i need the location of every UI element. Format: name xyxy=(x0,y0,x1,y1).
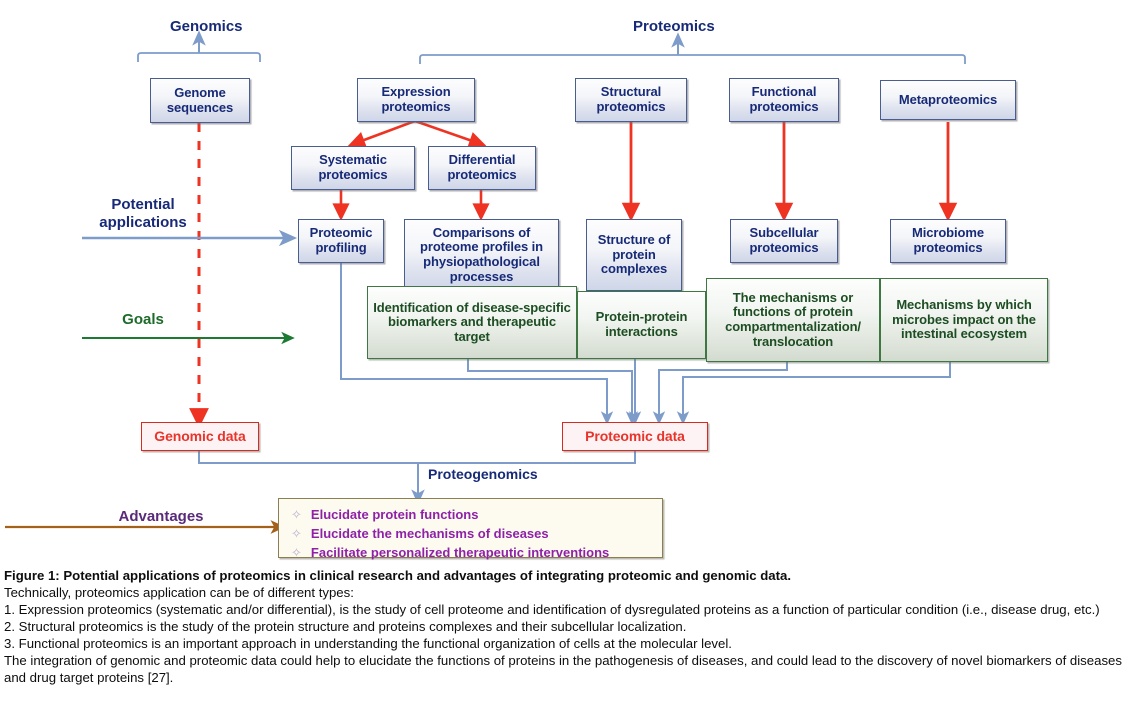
genomics-bracket xyxy=(138,53,260,62)
expression-to-differential-arrow xyxy=(415,121,478,143)
node-expression-proteomics-line-2: proteomics xyxy=(381,100,450,115)
expression-to-systematic-arrow xyxy=(356,121,415,143)
identification-to-proteomic-data-path xyxy=(468,359,632,418)
advantage-item-3: ✧ Facilitate personalized therapeutic in… xyxy=(291,544,652,563)
node-mechanisms-compartmentalization[interactable]: The mechanisms or functions of protein c… xyxy=(706,278,880,362)
genomics-heading: Genomics xyxy=(170,18,243,35)
node-functional-proteomics-line-2: proteomics xyxy=(749,100,818,115)
potential-applications-label: Potential applications xyxy=(93,196,193,232)
node-subcellular-proteomics[interactable]: Subcellular proteomics xyxy=(730,219,838,263)
node-systematic-proteomics-line-1: Systematic xyxy=(319,153,387,168)
caption-line-1: Technically, proteomics application can … xyxy=(4,584,1122,601)
caption-line-2: 1. Expression proteomics (systematic and… xyxy=(4,601,1122,618)
node-mechanisms-microbes[interactable]: Mechanisms by which microbes impact on t… xyxy=(880,278,1048,362)
diamond-bullet-icon: ✧ xyxy=(291,525,302,544)
proteomic-data-join-path xyxy=(418,451,635,463)
node-functional-proteomics-line-1: Functional xyxy=(752,85,817,100)
node-differential-proteomics[interactable]: Differential proteomics xyxy=(428,146,536,190)
node-subcellular-proteomics-line-1: Subcellular xyxy=(750,226,819,241)
potential-applications-line-2: applications xyxy=(93,214,193,232)
node-structural-proteomics[interactable]: Structural proteomics xyxy=(575,78,687,122)
advantage-item-3-text: Facilitate personalized therapeutic inte… xyxy=(311,544,609,563)
node-genome-sequences-line-2: sequences xyxy=(167,101,233,116)
node-systematic-proteomics[interactable]: Systematic proteomics xyxy=(291,146,415,190)
node-identification-biomarkers[interactable]: Identification of disease-specific bioma… xyxy=(367,286,577,359)
node-expression-proteomics[interactable]: Expression proteomics xyxy=(357,78,475,122)
node-structural-proteomics-line-1: Structural xyxy=(601,85,661,100)
compartmentalization-to-proteomic-data-path xyxy=(659,362,787,418)
node-structure-protein-complexes[interactable]: Structure of protein complexes xyxy=(586,219,682,291)
proteogenomics-label: Proteogenomics xyxy=(428,466,538,482)
genomic-data-join-path xyxy=(199,451,418,463)
node-genome-sequences-line-1: Genome xyxy=(174,86,225,101)
advantage-item-1: ✧ Elucidate protein functions xyxy=(291,506,652,525)
node-differential-proteomics-line-2: proteomics xyxy=(447,168,516,183)
advantages-box[interactable]: ✧ Elucidate protein functions ✧ Elucidat… xyxy=(278,498,663,558)
figure-diagram: Genomics Proteomics Potential applicatio… xyxy=(0,0,1126,563)
node-structural-proteomics-line-2: proteomics xyxy=(596,100,665,115)
node-proteomic-profiling[interactable]: Proteomic profiling xyxy=(298,219,384,263)
node-proteomic-profiling-line-2: profiling xyxy=(315,241,366,256)
node-microbiome-proteomics-line-2: proteomics xyxy=(913,241,982,256)
caption-line-5: The integration of genomic and proteomic… xyxy=(4,652,1122,686)
microbes-to-proteomic-data-path xyxy=(683,362,950,418)
caption-line-3: 2. Structural proteomics is the study of… xyxy=(4,618,1122,635)
caption-title: Figure 1: Potential applications of prot… xyxy=(4,567,1122,584)
caption-line-4: 3. Functional proteomics is an important… xyxy=(4,635,1122,652)
node-protein-protein-interactions[interactable]: Protein-protein interactions xyxy=(577,291,706,359)
potential-applications-line-1: Potential xyxy=(93,196,193,214)
node-comparisons-proteome-profiles[interactable]: Comparisons of proteome profiles in phys… xyxy=(404,219,559,291)
advantage-item-2: ✧ Elucidate the mechanisms of diseases xyxy=(291,525,652,544)
node-proteomic-profiling-line-1: Proteomic xyxy=(310,226,373,241)
node-genomic-data[interactable]: Genomic data xyxy=(141,422,259,451)
goals-label: Goals xyxy=(101,311,185,328)
diamond-bullet-icon: ✧ xyxy=(291,544,302,563)
proteomics-bracket xyxy=(420,55,965,64)
advantages-label: Advantages xyxy=(100,508,222,525)
node-systematic-proteomics-line-2: proteomics xyxy=(318,168,387,183)
diamond-bullet-icon: ✧ xyxy=(291,506,302,525)
node-expression-proteomics-line-1: Expression xyxy=(381,85,450,100)
advantage-item-1-text: Elucidate protein functions xyxy=(311,506,479,525)
node-subcellular-proteomics-line-2: proteomics xyxy=(749,241,818,256)
node-differential-proteomics-line-1: Differential xyxy=(449,153,516,168)
node-proteomic-data[interactable]: Proteomic data xyxy=(562,422,708,451)
node-functional-proteomics[interactable]: Functional proteomics xyxy=(729,78,839,122)
node-metaproteomics[interactable]: Metaproteomics xyxy=(880,80,1016,120)
figure-caption: Figure 1: Potential applications of prot… xyxy=(0,563,1126,725)
proteomics-heading: Proteomics xyxy=(633,18,715,35)
node-microbiome-proteomics[interactable]: Microbiome proteomics xyxy=(890,219,1006,263)
node-microbiome-proteomics-line-1: Microbiome xyxy=(912,226,984,241)
node-genome-sequences[interactable]: Genome sequences xyxy=(150,78,250,123)
advantage-item-2-text: Elucidate the mechanisms of diseases xyxy=(311,525,549,544)
